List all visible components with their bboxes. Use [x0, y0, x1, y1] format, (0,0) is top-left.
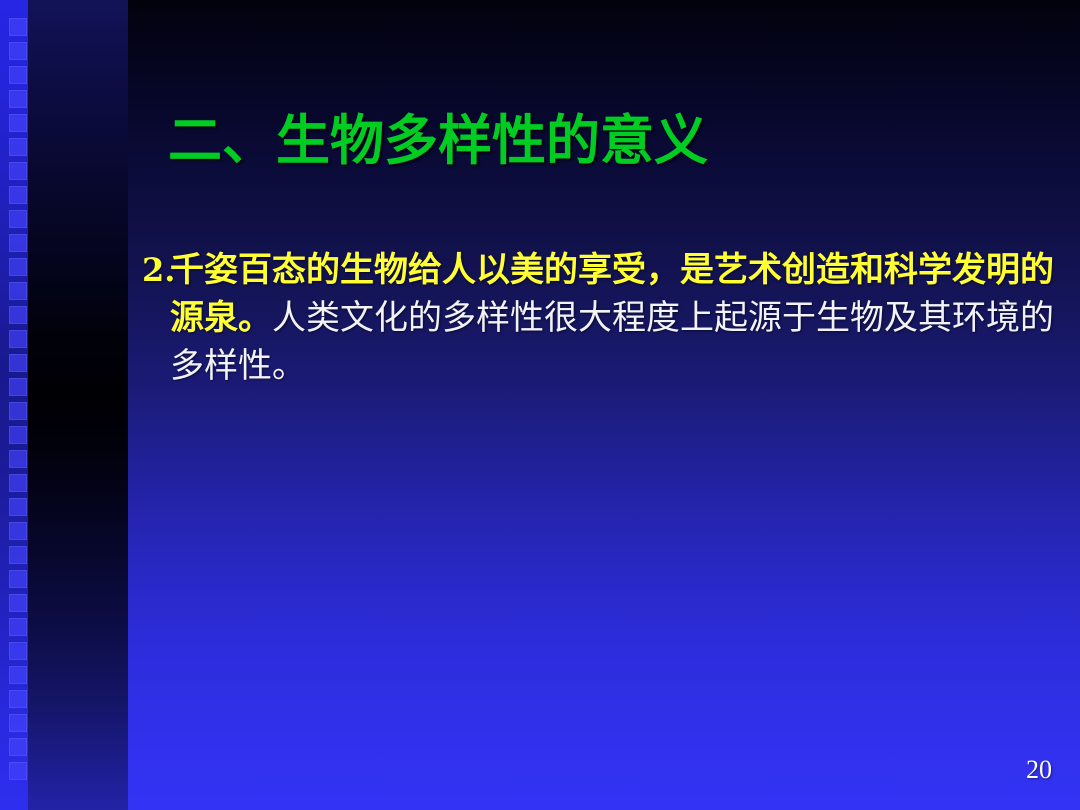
decorative-square — [9, 642, 27, 660]
decorative-square — [9, 162, 27, 180]
decorative-square — [9, 42, 27, 60]
decorative-square — [9, 114, 27, 132]
decorative-square — [9, 690, 27, 708]
slide-body: 2. 千姿百态的生物给人以美的享受，是艺术创造和科学发明的源泉。人类文化的多样性… — [142, 246, 1054, 390]
decorative-square — [9, 594, 27, 612]
decorative-square — [9, 210, 27, 228]
decorative-square — [9, 234, 27, 252]
decorative-square — [9, 426, 27, 444]
presentation-slide: 二、生物多样性的意义 2. 千姿百态的生物给人以美的享受，是艺术创造和科学发明的… — [0, 0, 1080, 810]
slide-title: 二、生物多样性的意义 — [168, 108, 708, 172]
left-dark-band-decoration — [28, 0, 128, 810]
decorative-square — [9, 762, 27, 780]
decorative-square — [9, 90, 27, 108]
decorative-square — [9, 714, 27, 732]
decorative-square — [9, 282, 27, 300]
decorative-square — [9, 354, 27, 372]
decorative-square — [9, 378, 27, 396]
decorative-square — [9, 666, 27, 684]
decorative-square — [9, 474, 27, 492]
decorative-square — [9, 330, 27, 348]
decorative-square — [9, 570, 27, 588]
bullet-item: 2. 千姿百态的生物给人以美的享受，是艺术创造和科学发明的源泉。人类文化的多样性… — [142, 246, 1054, 390]
decorative-square — [9, 186, 27, 204]
decorative-square — [9, 618, 27, 636]
page-number: 20 — [1026, 756, 1052, 784]
decorative-square — [9, 258, 27, 276]
decorative-square — [9, 450, 27, 468]
bullet-normal-text: 人类文化的多样性很大程度上起源于生物及其环境的多样性。 — [170, 298, 1054, 386]
decorative-square — [9, 522, 27, 540]
decorative-square — [9, 18, 27, 36]
decorative-square — [9, 66, 27, 84]
bullet-marker: 2. — [142, 246, 170, 294]
decorative-square — [9, 498, 27, 516]
decorative-square — [9, 546, 27, 564]
decorative-square — [9, 402, 27, 420]
square-column-decoration — [9, 18, 27, 810]
decorative-square — [9, 738, 27, 756]
bullet-text: 千姿百态的生物给人以美的享受，是艺术创造和科学发明的源泉。人类文化的多样性很大程… — [170, 246, 1054, 390]
decorative-square — [9, 306, 27, 324]
decorative-square — [9, 138, 27, 156]
